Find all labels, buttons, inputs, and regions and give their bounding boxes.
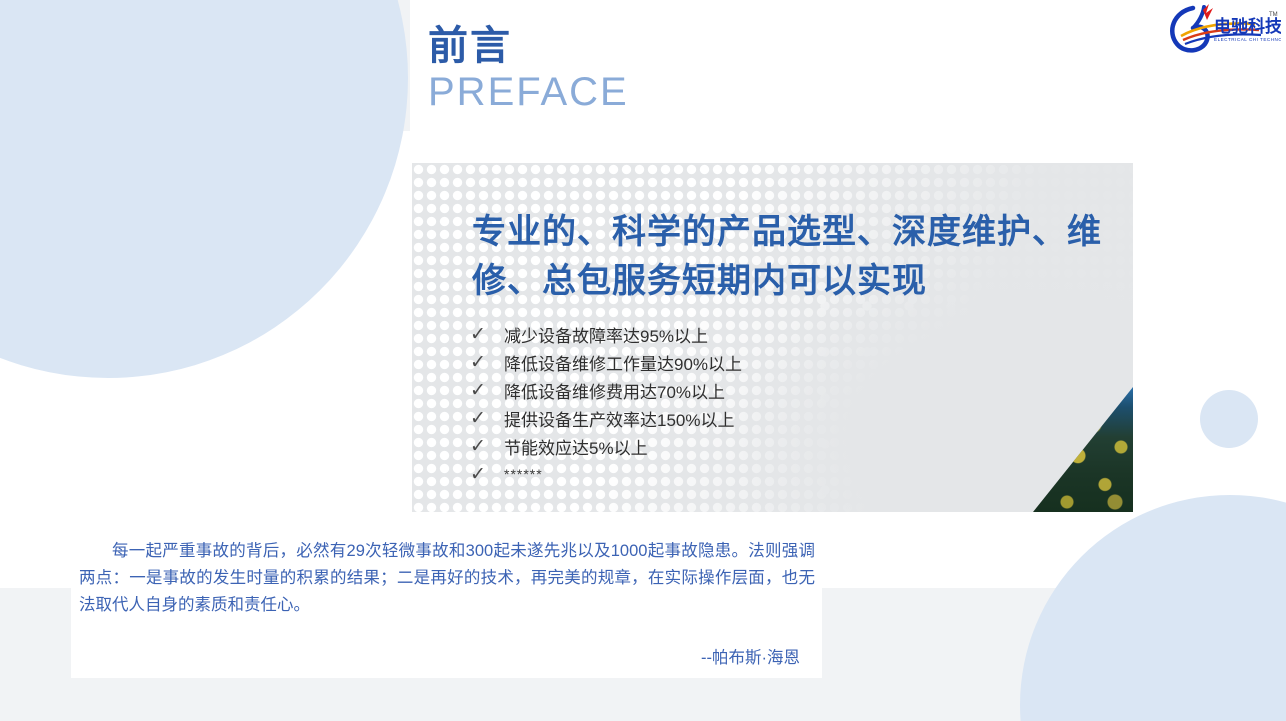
list-item-label: 降低设备维修工作量达90%以上 [494,350,742,375]
logo-icon: 电驰科技 ELECTRICAL CHI TECHNOLOGY TM [1163,2,1281,57]
sheet-mask-top [0,0,410,131]
list-item: ✓ 降低设备维修费用达70%以上 [470,376,890,404]
check-icon: ✓ [470,353,494,372]
check-icon: ✓ [470,325,494,344]
page-title-cn: 前言 [428,26,512,66]
benefits-checklist: ✓ 减少设备故障率达95%以上 ✓ 降低设备维修工作量达90%以上 ✓ 降低设备… [470,320,890,488]
list-item: ✓ ****** [470,460,890,488]
list-item-label: 降低设备维修费用达70%以上 [494,378,725,403]
list-item: ✓ 提供设备生产效率达150%以上 [470,404,890,432]
quote-text: 每一起严重事故的背后，必然有29次轻微事故和300起未遂先兆以及1000起事故隐… [79,538,815,620]
svg-text:ELECTRICAL CHI TECHNOLOGY: ELECTRICAL CHI TECHNOLOGY [1214,37,1281,42]
check-icon: ✓ [470,465,494,484]
list-item: ✓ 降低设备维修工作量达90%以上 [470,348,890,376]
svg-text:电驰科技: 电驰科技 [1214,16,1281,36]
main-headline: 专业的、科学的产品选型、深度维护、维修、总包服务短期内可以实现 [472,208,1144,307]
list-item: ✓ 减少设备故障率达95%以上 [470,320,890,348]
svg-text:TM: TM [1269,12,1278,18]
list-item-label: 减少设备故障率达95%以上 [494,322,708,347]
list-item-label: 提供设备生产效率达150%以上 [494,406,734,431]
company-logo: 电驰科技 ELECTRICAL CHI TECHNOLOGY TM [1163,2,1281,57]
quote-author: --帕布斯·海恩 [701,644,800,668]
quote-card: 每一起严重事故的背后，必然有29次轻微事故和300起未遂先兆以及1000起事故隐… [71,530,822,678]
list-item-label: 节能效应达5%以上 [494,434,648,459]
list-item-label: ****** [494,466,543,482]
list-item: ✓ 节能效应达5%以上 [470,432,890,460]
slide-canvas: 前言 PREFACE 电驰科技 ELECTRICAL CHI TECHNOLOG… [0,0,1286,721]
check-icon: ✓ [470,381,494,400]
check-icon: ✓ [470,437,494,456]
check-icon: ✓ [470,409,494,428]
page-title-en: PREFACE [428,72,629,112]
